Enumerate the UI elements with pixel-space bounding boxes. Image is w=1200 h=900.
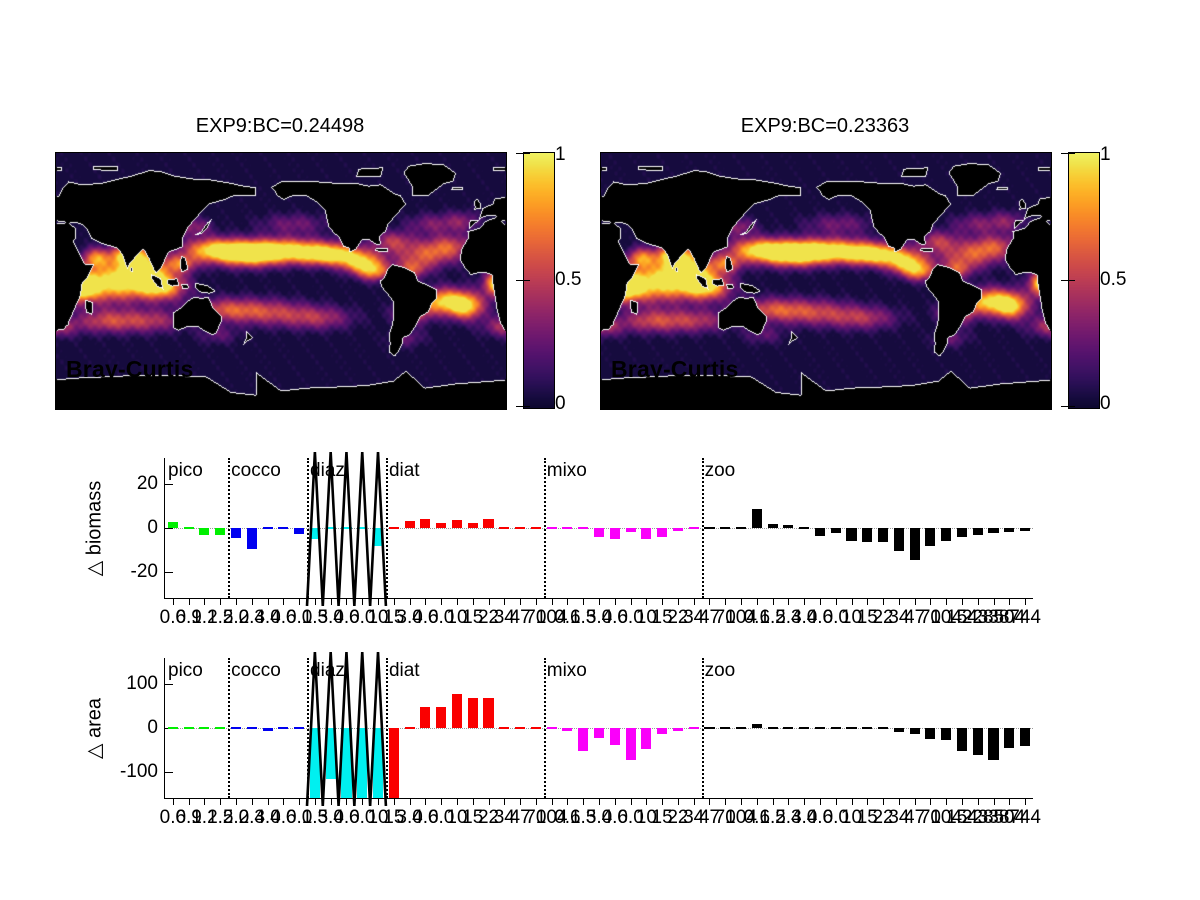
bar	[657, 728, 667, 734]
y-tick-label: 100	[126, 673, 158, 695]
x-tick-mark	[615, 598, 616, 605]
x-tick-mark	[662, 798, 663, 805]
x-tick-mark	[362, 798, 363, 805]
bar	[641, 728, 651, 749]
bar	[420, 519, 430, 528]
x-tick-mark	[599, 598, 600, 605]
x-tick-mark	[709, 798, 710, 805]
x-tick-mark	[930, 598, 931, 605]
bar	[783, 525, 793, 528]
group-label-zoo: zoo	[705, 660, 736, 682]
y-tick-mark	[165, 772, 173, 773]
y-tick-label: 0	[147, 717, 158, 739]
bar	[452, 694, 462, 728]
colorbar-tick-1-min: 0	[555, 393, 566, 415]
bar	[925, 528, 935, 546]
x-tick-mark	[378, 598, 379, 605]
bar	[704, 527, 714, 529]
x-tick-mark	[867, 798, 868, 805]
bar	[925, 728, 935, 739]
x-tick-mark	[867, 598, 868, 605]
bar	[184, 527, 194, 529]
bar	[199, 528, 209, 535]
bar	[704, 727, 714, 729]
bar	[610, 528, 620, 539]
x-tick-mark	[757, 798, 758, 805]
bar	[499, 527, 509, 529]
bar	[752, 509, 762, 528]
x-tick-mark	[725, 798, 726, 805]
bar	[247, 727, 257, 729]
bar	[941, 728, 951, 740]
bar	[831, 727, 841, 729]
delta-area-y-axis-label: △ area	[82, 649, 107, 809]
x-tick-mark	[283, 798, 284, 805]
bar	[483, 519, 493, 528]
y-tick-label: 0	[147, 517, 158, 539]
x-tick-mark	[425, 798, 426, 805]
x-tick-mark	[252, 798, 253, 805]
bar	[957, 528, 967, 537]
bar	[846, 528, 856, 541]
x-tick-mark	[788, 798, 789, 805]
x-tick-mark	[315, 598, 316, 605]
x-tick-mark	[978, 598, 979, 605]
x-tick-mark	[378, 798, 379, 805]
x-tick-mark	[567, 598, 568, 605]
bar	[310, 728, 320, 798]
y-tick-label: 20	[137, 473, 158, 495]
x-tick-mark	[1009, 798, 1010, 805]
x-tick-mark	[930, 798, 931, 805]
x-tick-mark	[1025, 798, 1026, 805]
x-tick-label: 744	[1009, 807, 1041, 829]
x-tick-mark	[994, 798, 995, 805]
x-tick-mark	[1009, 598, 1010, 605]
bar	[263, 728, 273, 731]
x-tick-mark	[631, 598, 632, 605]
x-tick-mark	[741, 598, 742, 605]
bar	[799, 727, 809, 729]
bar	[357, 728, 367, 798]
bar	[231, 727, 241, 729]
x-tick-mark	[994, 598, 995, 605]
x-tick-mark	[189, 798, 190, 805]
group-separator	[702, 658, 704, 798]
map-title-1: EXP9:BC=0.24498	[55, 115, 505, 138]
x-tick-mark	[489, 598, 490, 605]
bar	[436, 707, 446, 728]
bar	[341, 527, 351, 529]
y-tick-mark	[165, 484, 173, 485]
bar	[199, 727, 209, 729]
x-tick-mark	[504, 798, 505, 805]
x-tick-mark	[520, 798, 521, 805]
x-tick-label: 744	[1009, 607, 1041, 629]
bar	[799, 527, 809, 529]
x-tick-mark	[678, 598, 679, 605]
bar	[862, 727, 872, 729]
bar	[278, 527, 288, 529]
x-tick-mark	[331, 798, 332, 805]
group-separator	[544, 658, 546, 798]
x-tick-mark	[962, 598, 963, 605]
x-tick-mark	[410, 798, 411, 805]
bar	[468, 523, 478, 528]
x-tick-mark	[583, 598, 584, 605]
x-tick-mark	[899, 798, 900, 805]
bar	[483, 698, 493, 728]
bar	[815, 528, 825, 536]
bar	[736, 727, 746, 729]
bar	[783, 727, 793, 729]
bar	[894, 528, 904, 551]
bar	[562, 728, 572, 731]
x-tick-mark	[520, 598, 521, 605]
colorbar-tick-2-min: 0	[1100, 393, 1111, 415]
x-tick-mark	[346, 598, 347, 605]
group-label-diaz: diaz	[310, 660, 345, 682]
bar	[278, 727, 288, 729]
bar	[846, 727, 856, 729]
x-tick-mark	[978, 798, 979, 805]
x-tick-mark	[410, 598, 411, 605]
x-tick-mark	[189, 598, 190, 605]
x-tick-mark	[694, 798, 695, 805]
bar	[1020, 728, 1030, 746]
y-tick-mark	[165, 528, 173, 529]
bar	[1020, 528, 1030, 531]
bar	[831, 528, 841, 533]
x-tick-mark	[220, 598, 221, 605]
x-tick-mark	[504, 598, 505, 605]
x-tick-mark	[457, 598, 458, 605]
x-tick-mark	[268, 798, 269, 805]
x-tick-mark	[536, 798, 537, 805]
x-tick-mark	[315, 798, 316, 805]
x-tick-mark	[820, 598, 821, 605]
x-tick-mark	[883, 798, 884, 805]
x-tick-mark	[946, 598, 947, 605]
x-tick-mark	[283, 598, 284, 605]
x-tick-mark	[220, 798, 221, 805]
y-tick-label: -20	[131, 561, 158, 583]
bar	[641, 528, 651, 539]
x-tick-mark	[552, 798, 553, 805]
x-tick-mark	[1025, 598, 1026, 605]
colorbar-tick-1-mid: 0.5	[555, 269, 581, 291]
x-tick-mark	[473, 798, 474, 805]
group-label-diat: diat	[389, 660, 420, 682]
x-tick-mark	[915, 598, 916, 605]
group-separator	[544, 458, 546, 598]
world-map-2: Bray-Curtis	[600, 152, 1052, 410]
bar	[941, 528, 951, 541]
world-map-1: Bray-Curtis	[55, 152, 507, 410]
x-tick-mark	[394, 798, 395, 805]
bar	[389, 527, 399, 529]
x-tick-mark	[773, 598, 774, 605]
map-overlay-label-2: Bray-Curtis	[611, 356, 738, 383]
bar	[878, 727, 888, 729]
bar	[752, 724, 762, 728]
x-tick-mark	[899, 598, 900, 605]
bar	[910, 728, 920, 734]
x-tick-mark	[441, 798, 442, 805]
x-tick-mark	[236, 798, 237, 805]
bar	[594, 528, 604, 537]
bar	[673, 728, 683, 731]
bar	[515, 727, 525, 729]
bar	[878, 528, 888, 542]
x-tick-mark	[820, 798, 821, 805]
group-label-zoo: zoo	[705, 460, 736, 482]
bar	[957, 728, 967, 751]
y-tick-mark	[165, 572, 173, 573]
bar	[626, 528, 636, 532]
group-label-diat: diat	[389, 460, 420, 482]
x-tick-mark	[631, 798, 632, 805]
x-tick-mark	[915, 798, 916, 805]
bar	[610, 728, 620, 745]
bar	[326, 527, 336, 529]
bar	[720, 527, 730, 529]
group-separator	[307, 458, 309, 598]
bar	[689, 727, 699, 729]
x-tick-mark	[852, 598, 853, 605]
bar	[815, 727, 825, 729]
x-tick-mark	[946, 798, 947, 805]
bar	[326, 728, 336, 779]
x-tick-mark	[694, 598, 695, 605]
bar	[562, 527, 572, 529]
bar	[988, 728, 998, 760]
map-overlay-label-1: Bray-Curtis	[66, 356, 193, 383]
x-tick-mark	[662, 598, 663, 605]
x-tick-mark	[646, 798, 647, 805]
bar	[310, 528, 320, 539]
bar	[468, 698, 478, 728]
bar	[973, 728, 983, 755]
bar	[547, 727, 557, 729]
bar	[973, 528, 983, 535]
group-label-pico: pico	[168, 660, 203, 682]
bar	[215, 528, 225, 535]
x-tick-mark	[236, 598, 237, 605]
bar	[341, 728, 351, 798]
x-tick-mark	[583, 798, 584, 805]
bar	[594, 728, 604, 738]
x-tick-mark	[804, 598, 805, 605]
bar	[405, 727, 415, 729]
x-tick-mark	[709, 598, 710, 605]
x-tick-mark	[552, 598, 553, 605]
bar	[389, 728, 399, 798]
x-tick-mark	[473, 598, 474, 605]
bar	[420, 707, 430, 728]
bar	[373, 728, 383, 798]
bar	[910, 528, 920, 560]
delta-biomass-y-axis-label: △ biomass	[82, 449, 107, 609]
bar	[547, 527, 557, 529]
bar	[1004, 528, 1014, 532]
x-tick-mark	[268, 598, 269, 605]
bar	[578, 728, 588, 751]
colorbar-tick-2-max: 1	[1100, 144, 1111, 166]
bar	[184, 727, 194, 729]
bar	[168, 727, 178, 729]
bar	[862, 528, 872, 542]
x-tick-mark	[173, 598, 174, 605]
bar	[657, 528, 667, 537]
x-tick-mark	[836, 798, 837, 805]
x-tick-mark	[773, 798, 774, 805]
y-tick-mark	[165, 684, 173, 685]
x-tick-mark	[204, 798, 205, 805]
bar	[436, 523, 446, 528]
x-tick-mark	[962, 798, 963, 805]
x-tick-mark	[331, 598, 332, 605]
bar	[531, 527, 541, 529]
group-label-pico: pico	[168, 460, 203, 482]
x-tick-mark	[425, 598, 426, 605]
bar	[1004, 728, 1014, 748]
x-tick-mark	[362, 598, 363, 605]
group-label-cocco: cocco	[231, 660, 281, 682]
x-tick-mark	[252, 598, 253, 605]
figure-root: EXP9:BC=0.24498 Bray-Curtis 1 0.5 0 EXP9…	[0, 0, 1200, 900]
group-label-diaz: diaz	[310, 460, 345, 482]
bar	[578, 527, 588, 529]
x-tick-mark	[883, 598, 884, 605]
x-tick-mark	[489, 798, 490, 805]
bar	[768, 524, 778, 528]
x-tick-mark	[788, 598, 789, 605]
colorbar-tick-2-mid: 0.5	[1100, 269, 1126, 291]
x-tick-mark	[615, 798, 616, 805]
bar	[736, 527, 746, 529]
colorbar-tick-1-max: 1	[555, 144, 566, 166]
bar	[768, 727, 778, 729]
bar	[452, 520, 462, 528]
x-tick-mark	[741, 798, 742, 805]
bar	[499, 727, 509, 729]
x-tick-mark	[757, 598, 758, 605]
group-label-mixo: mixo	[547, 660, 587, 682]
bar	[247, 528, 257, 549]
group-separator	[307, 658, 309, 798]
bar	[294, 528, 304, 534]
x-tick-mark	[346, 798, 347, 805]
bar	[689, 527, 699, 529]
bar	[405, 521, 415, 528]
x-tick-mark	[836, 598, 837, 605]
bar	[373, 528, 383, 546]
bar	[231, 528, 241, 538]
x-tick-mark	[599, 798, 600, 805]
x-tick-mark	[852, 798, 853, 805]
x-tick-mark	[441, 598, 442, 605]
x-tick-mark	[646, 598, 647, 605]
x-tick-mark	[299, 598, 300, 605]
map-title-2: EXP9:BC=0.23363	[600, 115, 1050, 138]
bar	[894, 728, 904, 732]
x-tick-mark	[457, 798, 458, 805]
group-separator	[386, 658, 388, 798]
bar	[531, 727, 541, 729]
x-tick-mark	[725, 598, 726, 605]
x-tick-mark	[536, 598, 537, 605]
x-tick-mark	[173, 798, 174, 805]
x-tick-mark	[204, 598, 205, 605]
x-tick-mark	[299, 798, 300, 805]
bar	[215, 727, 225, 729]
bar	[294, 727, 304, 729]
y-tick-label: -100	[120, 761, 158, 783]
bar	[988, 528, 998, 533]
bar	[263, 527, 273, 529]
x-tick-mark	[804, 798, 805, 805]
group-separator	[702, 458, 704, 598]
group-separator	[228, 458, 230, 598]
x-tick-mark	[394, 598, 395, 605]
group-separator	[386, 458, 388, 598]
group-label-cocco: cocco	[231, 460, 281, 482]
x-tick-mark	[678, 798, 679, 805]
bar	[515, 527, 525, 529]
bar	[626, 728, 636, 760]
bar	[673, 528, 683, 531]
group-separator	[228, 658, 230, 798]
group-label-mixo: mixo	[547, 460, 587, 482]
x-tick-mark	[567, 798, 568, 805]
bar	[168, 522, 178, 528]
bar	[357, 527, 367, 529]
bar	[720, 727, 730, 729]
